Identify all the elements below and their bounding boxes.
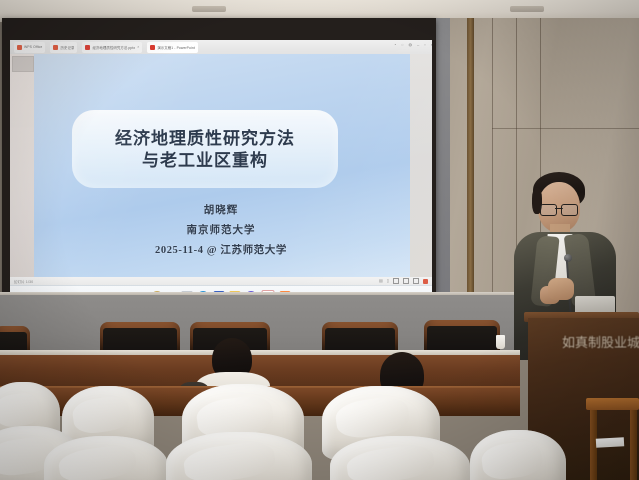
covered-chair [470,430,566,480]
slideshow-icon[interactable] [423,279,428,284]
comments-icon[interactable]: ▯ [387,279,389,283]
slide-thumbnail[interactable] [12,56,34,72]
ppt-icon [150,45,155,50]
account-icon[interactable]: ◔ [394,43,396,47]
slide-title-box: 经济地理质性研究方法 与老工业区重构 [72,110,338,188]
app-tab-active[interactable]: 演示文稿1 - PowerPoint [147,42,198,53]
ceiling-vent-icon [192,6,226,12]
side-table [586,398,639,410]
paper-sheet [596,437,624,447]
slide-counter: 幻灯片 1/30 [14,279,33,284]
slide-presenter-name: 胡晓辉 [10,202,432,217]
glasses-lens-right [561,204,578,216]
slide-right-pane [410,54,432,286]
glasses-lens-left [540,204,557,216]
close-icon[interactable]: × [431,43,432,47]
slide-thumbnail-pane[interactable] [10,54,34,286]
slide-title-line-1: 经济地理质性研究方法 [115,130,295,147]
app-tab-bar: WPS Office 历史记录 经济地理质性研究方法.pptx × 演示文稿1 … [10,40,432,54]
restore-icon[interactable]: ▫ [424,43,425,47]
window-controls: ◔ ◌ ◍ – ▫ × [394,43,432,47]
slide-date-venue: 2025-11-4 @ 江苏师范大学 [10,242,432,257]
presenter-hand-right [548,278,574,300]
app-tab-label: 历史记录 [60,45,74,50]
lecture-hall-photo: WPS Office 历史记录 经济地理质性研究方法.pptx × 演示文稿1 … [0,0,639,480]
podium-text-value: 如真制股业城 [562,332,639,351]
minimize-icon[interactable]: – [417,43,419,47]
chair-back [424,320,500,354]
paper-cup [496,335,505,349]
projection-screen-frame: WPS Office 历史记录 经济地理质性研究方法.pptx × 演示文稿1 … [2,18,436,302]
wall-seam [492,128,639,129]
app-tab-label: 经济地理质性研究方法.pptx [92,45,135,50]
app-tab-label: 演示文稿1 - PowerPoint [157,45,195,50]
close-icon[interactable]: × [137,45,139,49]
side-table-leg [630,410,637,480]
podium-engraved-text: 如真制股业城 [562,332,639,350]
app-tab[interactable]: WPS Office [14,42,45,53]
projected-screen: WPS Office 历史记录 经济地理质性研究方法.pptx × 演示文稿1 … [10,40,432,312]
doc-icon [53,45,58,50]
app-tab-label: WPS Office [24,45,42,49]
notes-icon[interactable]: ▤ [379,279,383,283]
wps-icon [17,45,22,50]
covered-chair [330,436,470,480]
slide-affiliation: 南京师范大学 [10,222,432,237]
reading-view-icon[interactable] [413,278,419,284]
ceiling-vent-icon [510,6,544,12]
share-icon[interactable]: ◌ [401,43,403,47]
slide-title-line-2: 与老工业区重构 [142,152,268,169]
help-icon[interactable]: ◍ [409,43,413,47]
ppt-icon [85,45,90,50]
normal-view-icon[interactable] [393,278,399,284]
glasses-icon [540,204,578,214]
status-bar-icons: ▤ ▯ [379,278,428,284]
app-tab[interactable]: 经济地理质性研究方法.pptx × [82,42,142,53]
app-tab[interactable]: 历史记录 [50,42,77,53]
sorter-view-icon[interactable] [403,278,409,284]
